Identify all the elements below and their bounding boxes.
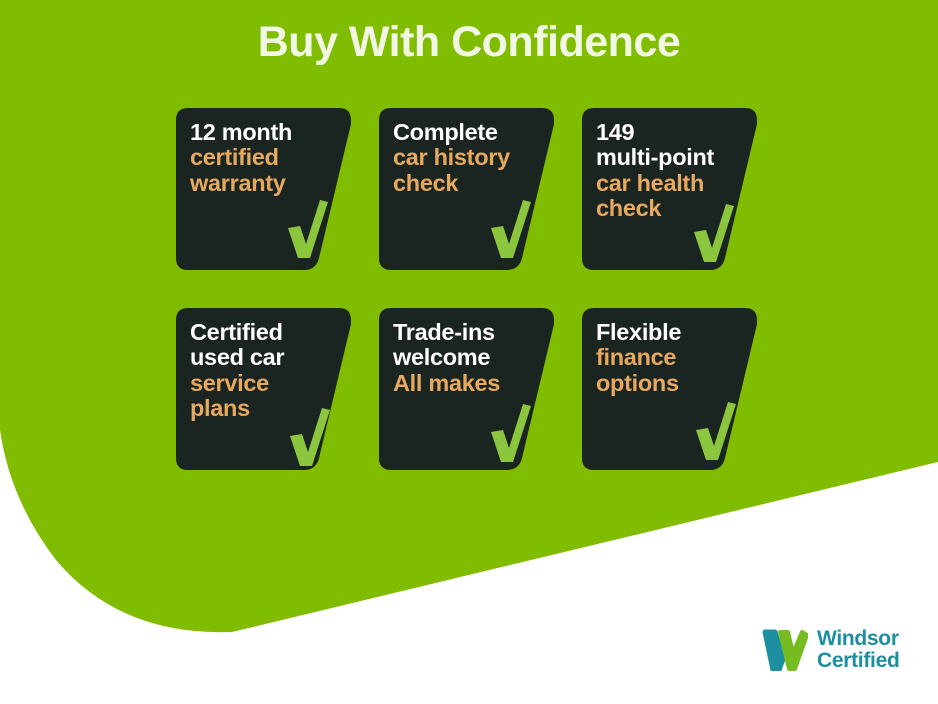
card-text: Flexible finance options [596, 320, 748, 396]
card-line-white: Complete [393, 120, 545, 145]
card-line-orange: All makes [393, 371, 545, 396]
card-line-white: used car [190, 345, 342, 370]
card-line-orange: options [596, 371, 748, 396]
card-line-orange: plans [190, 396, 342, 421]
card-line-white: Certified [190, 320, 342, 345]
benefit-card[interactable]: Trade-ins welcome All makes [379, 308, 554, 470]
card-line-orange: certified [190, 145, 342, 170]
logo-line-1: Windsor [817, 628, 899, 650]
card-line-white: Trade-ins [393, 320, 545, 345]
card-line-white: Flexible [596, 320, 748, 345]
benefit-card[interactable]: Complete car history check [379, 108, 554, 270]
benefit-card[interactable]: Certified used car service plans [176, 308, 351, 470]
card-line-white: 149 [596, 120, 748, 145]
card-line-orange: finance [596, 345, 748, 370]
benefit-card-grid: 12 month certified warranty Complete car… [176, 108, 756, 478]
page-title: Buy With Confidence [0, 18, 938, 67]
card-line-orange: service [190, 371, 342, 396]
card-text: Trade-ins welcome All makes [393, 320, 545, 396]
card-text: 149 multi-point car health check [596, 120, 748, 222]
card-line-orange: car health [596, 171, 748, 196]
benefit-card[interactable]: 149 multi-point car health check [582, 108, 757, 270]
card-text: 12 month certified warranty [190, 120, 342, 196]
promo-banner: Buy With Confidence 12 month certified w… [0, 0, 938, 704]
card-line-orange: check [596, 196, 748, 221]
windsor-w-icon [762, 629, 808, 671]
windsor-certified-logo[interactable]: Windsor Certified [762, 628, 899, 673]
card-line-orange: warranty [190, 171, 342, 196]
card-text: Complete car history check [393, 120, 545, 196]
card-line-orange: check [393, 171, 545, 196]
benefit-card[interactable]: Flexible finance options [582, 308, 757, 470]
logo-line-2: Certified [817, 650, 899, 672]
card-text: Certified used car service plans [190, 320, 342, 422]
benefit-card[interactable]: 12 month certified warranty [176, 108, 351, 270]
card-line-white: welcome [393, 345, 545, 370]
card-line-orange: car history [393, 145, 545, 170]
logo-wordmark: Windsor Certified [817, 628, 899, 673]
card-line-white: multi-point [596, 145, 748, 170]
card-line-white: 12 month [190, 120, 342, 145]
